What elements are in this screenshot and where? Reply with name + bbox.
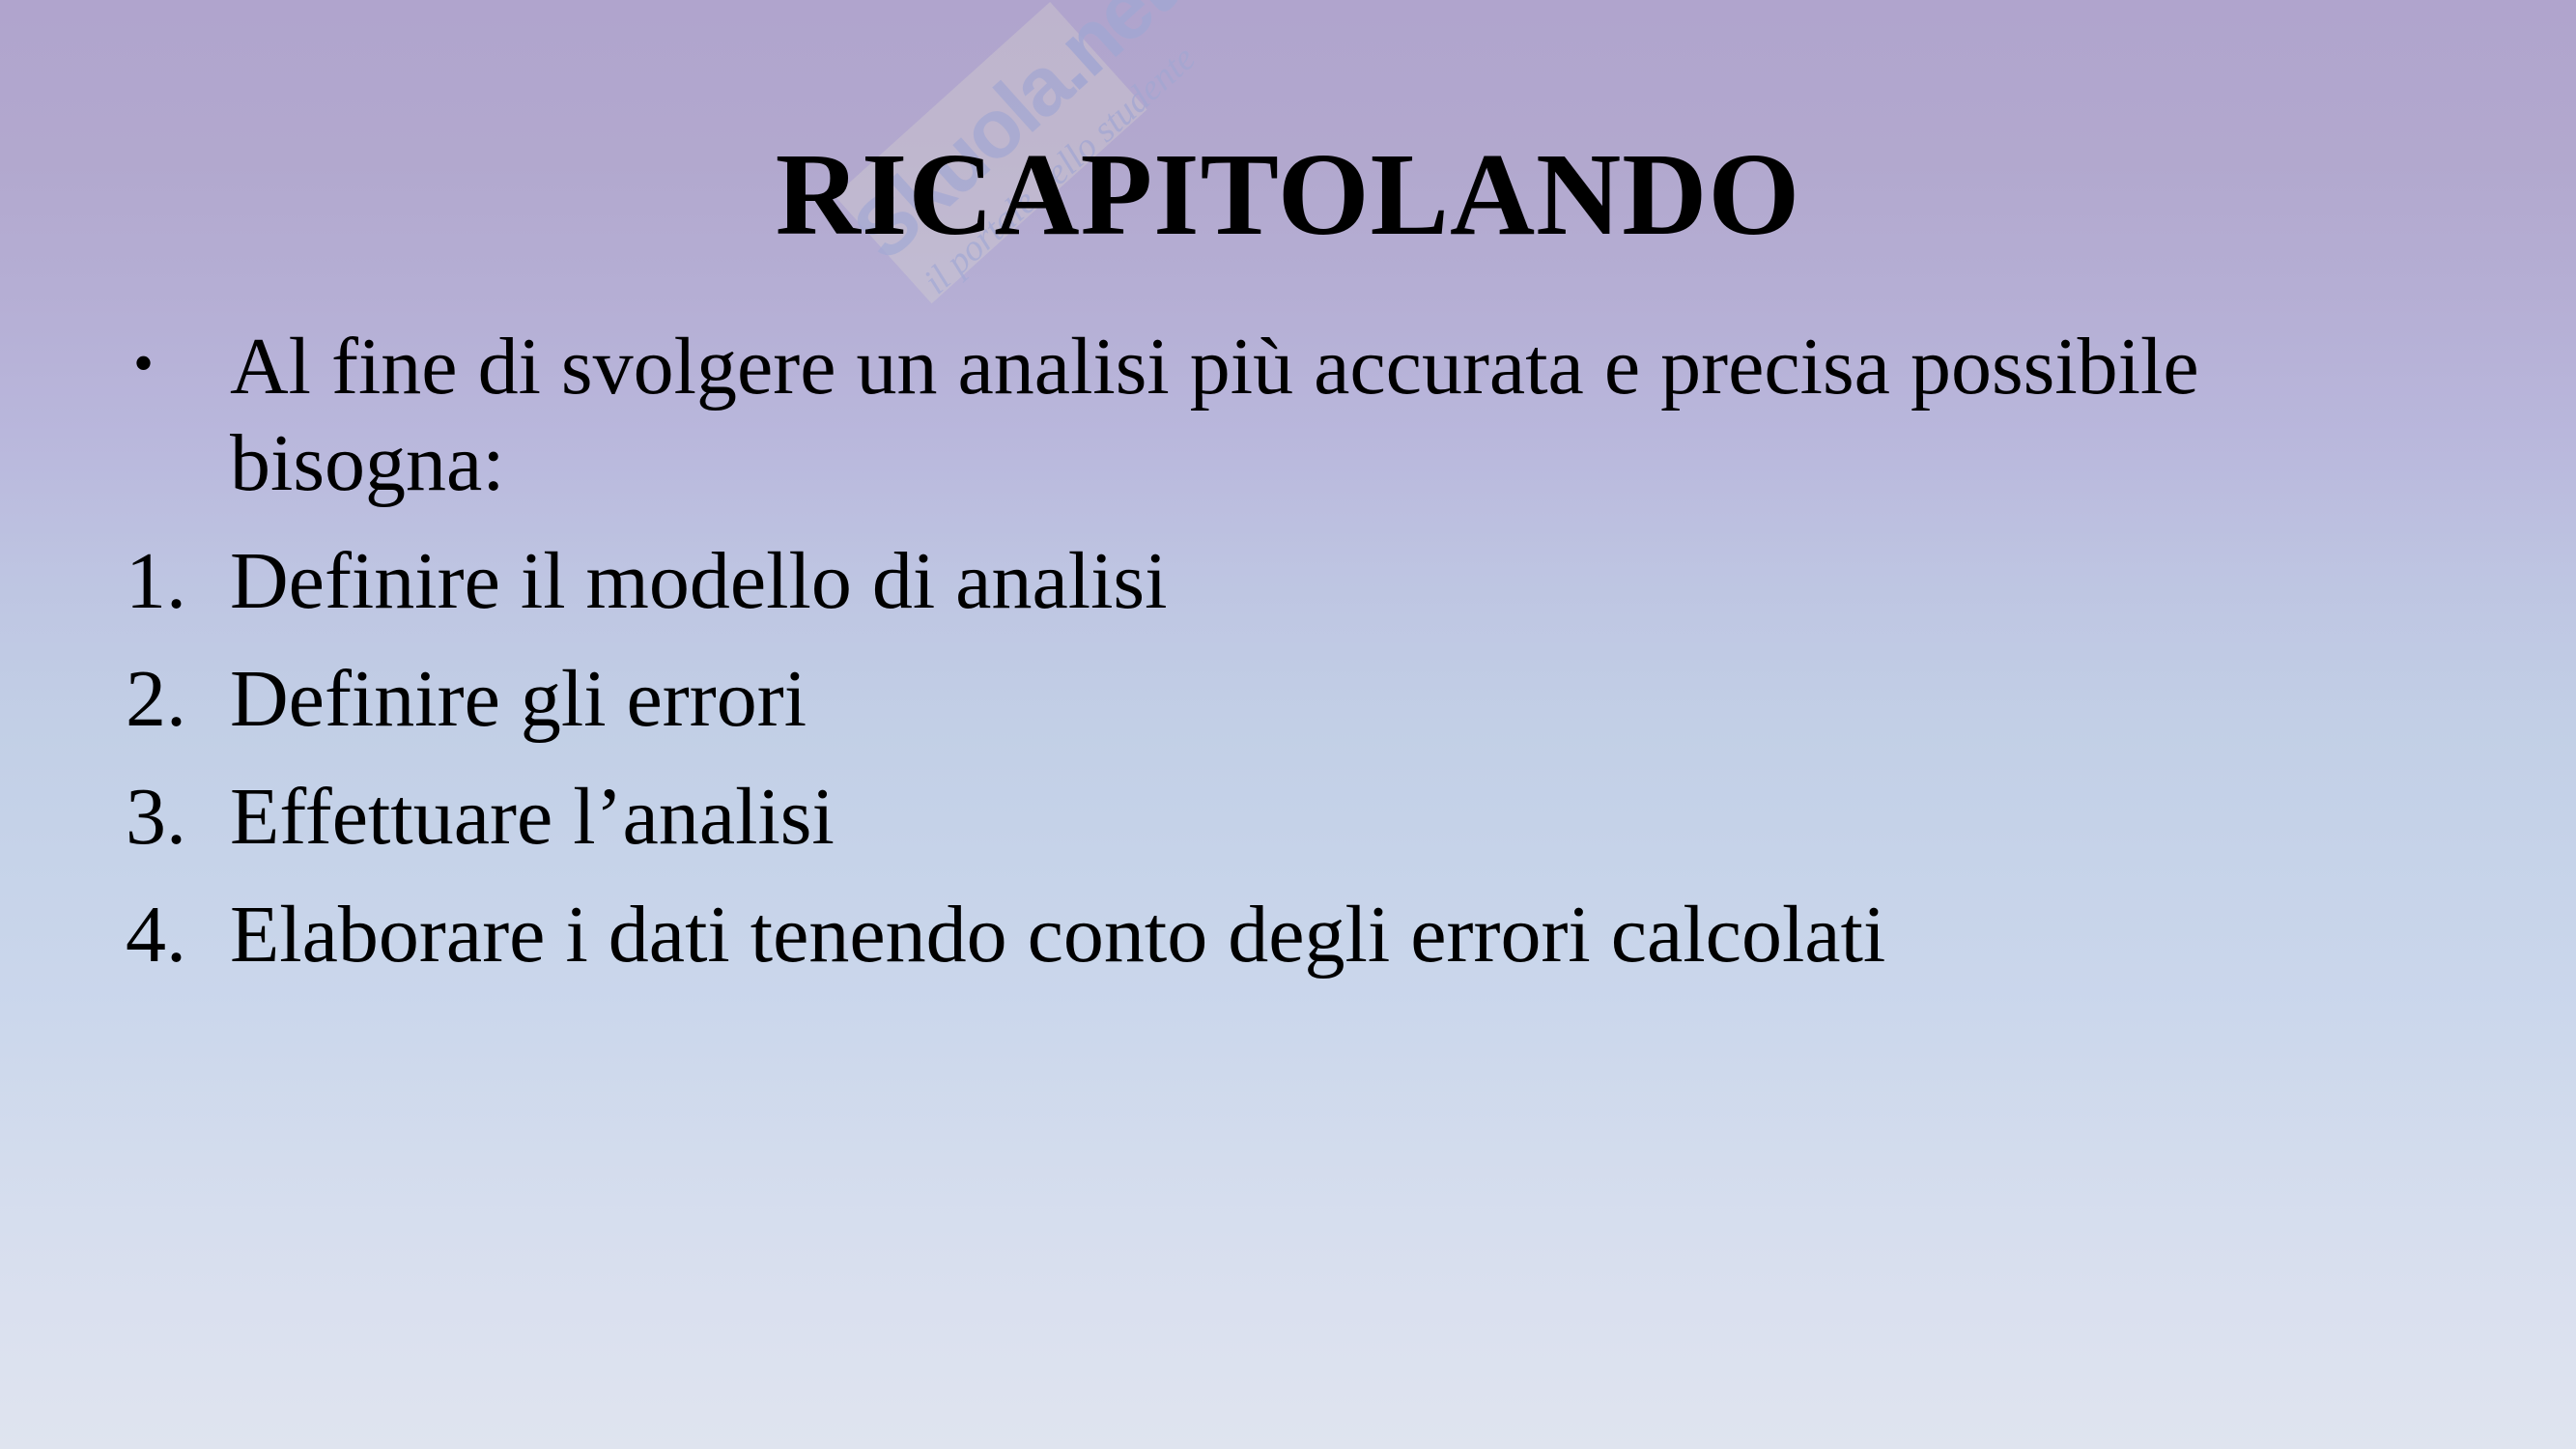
list-item-bullet: • Al fine di svolgere un analisi più acc…	[116, 319, 2463, 512]
number-marker-3: 3.	[116, 769, 230, 866]
slide-body-list: • Al fine di svolgere un analisi più acc…	[116, 319, 2463, 1005]
list-item-text: Al fine di svolgere un analisi più accur…	[230, 319, 2287, 512]
list-item-4: 4. Elaborare i dati tenendo conto degli …	[116, 887, 2463, 983]
list-item-text: Definire gli errori	[230, 651, 2335, 748]
list-item-2: 2. Definire gli errori	[116, 651, 2463, 748]
list-item-text: Definire il modello di analisi	[230, 533, 2335, 630]
list-item-1: 1. Definire il modello di analisi	[116, 533, 2463, 630]
list-item-3: 3. Effettuare l’analisi	[116, 769, 2463, 866]
watermark-brand-suffix: .net	[1026, 0, 1189, 107]
slide-title: RICAPITOLANDO	[0, 133, 2576, 257]
number-marker-1: 1.	[116, 533, 230, 630]
list-item-text: Effettuare l’analisi	[230, 769, 2335, 866]
number-marker-2: 2.	[116, 651, 230, 748]
list-item-text: Elaborare i dati tenendo conto degli err…	[230, 887, 2335, 983]
bullet-marker: •	[116, 319, 230, 409]
presentation-slide: Skuola.net il portale dello studente RIC…	[0, 0, 2576, 1449]
number-marker-4: 4.	[116, 887, 230, 983]
